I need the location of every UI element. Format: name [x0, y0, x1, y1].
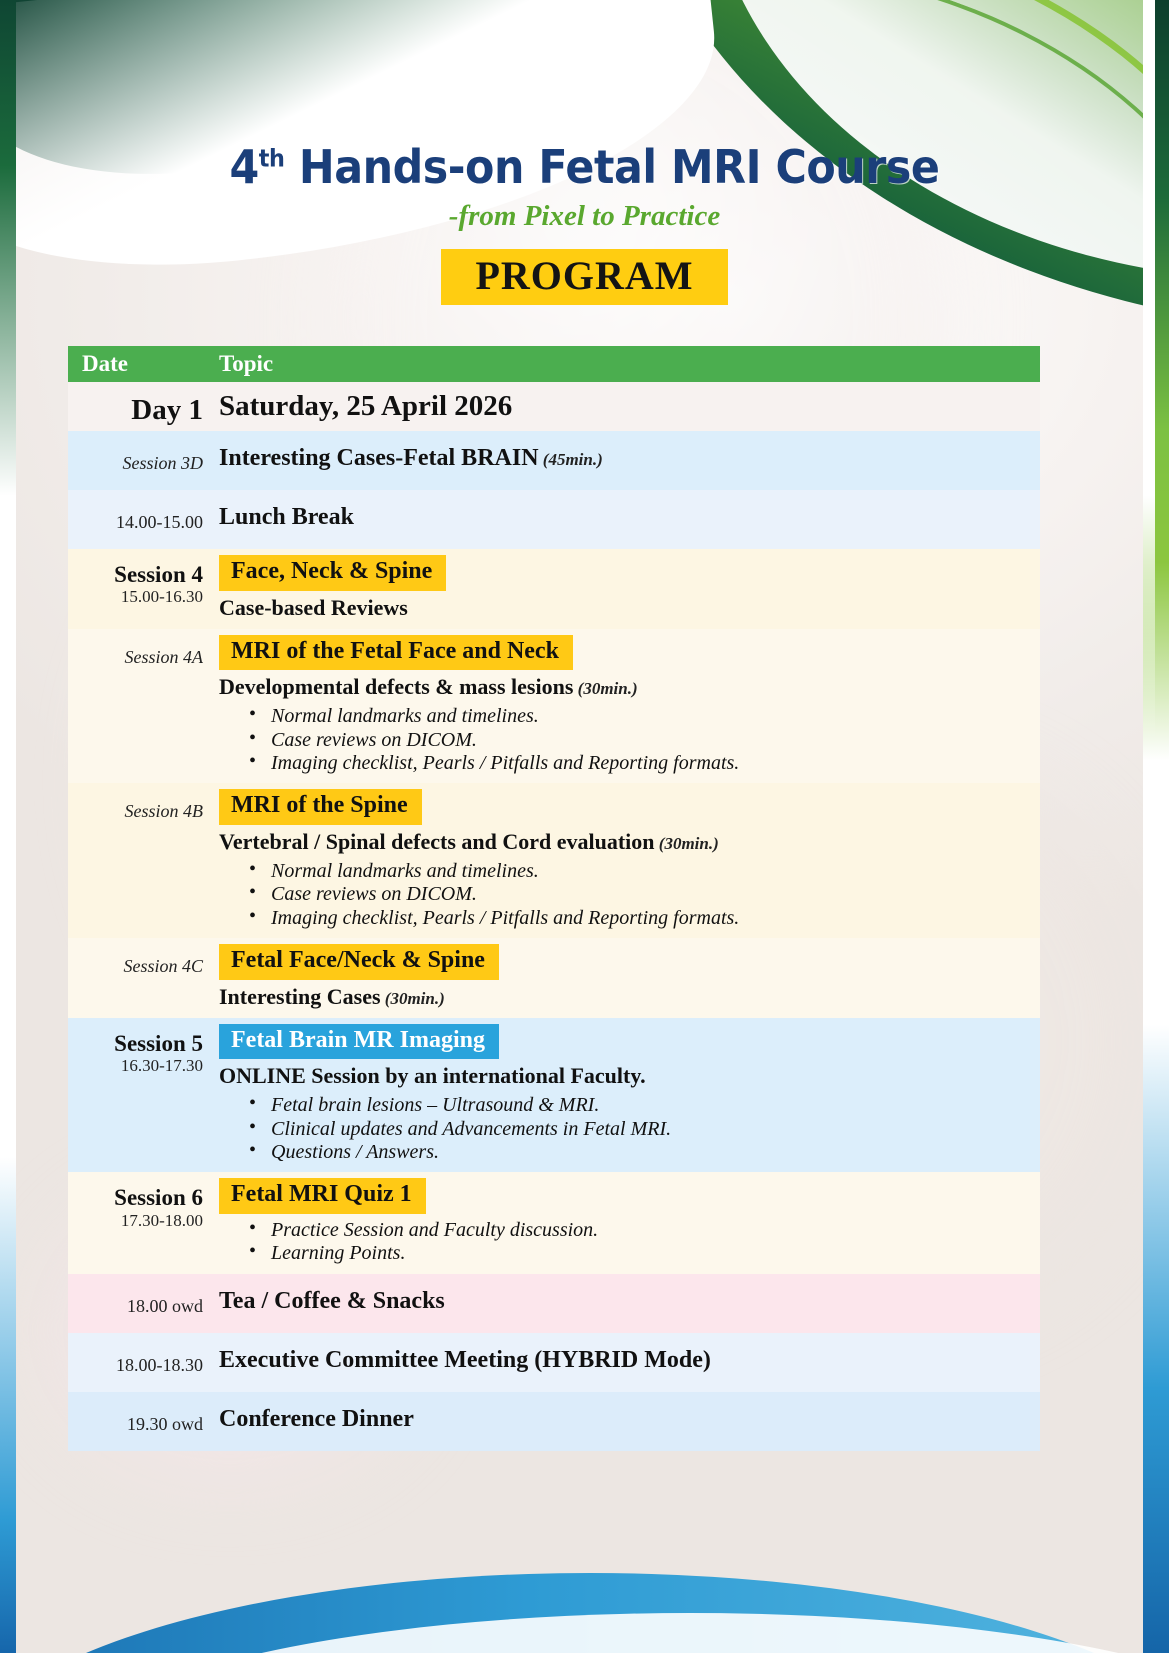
session-code: Session 4B	[68, 791, 203, 822]
session-time: 16.30-17.30	[68, 1056, 203, 1076]
session-time: 18.00-18.30	[68, 1341, 203, 1376]
session-bullet-list: Normal landmarks and timelines.Case revi…	[219, 860, 1040, 930]
session-subtitle: Developmental defects & mass lesions (30…	[219, 674, 1040, 700]
session-bullet-list: Normal landmarks and timelines.Case revi…	[219, 705, 1040, 775]
day-date-text: Saturday, 25 April 2026	[219, 388, 1040, 423]
table-row: Session 415.00-16.30Face, Neck & SpineCa…	[68, 549, 1040, 629]
list-item: Practice Session and Faculty discussion.	[245, 1219, 1040, 1242]
list-item: Case reviews on DICOM.	[245, 883, 1040, 906]
row-topic-cell: Saturday, 25 April 2026	[213, 382, 1040, 431]
session-time: 19.30 owd	[68, 1400, 203, 1435]
session-title-chip: Fetal MRI Quiz 1	[219, 1178, 426, 1214]
row-date-cell: 18.00 owd	[68, 1274, 213, 1333]
table-row: Session 617.30-18.00Fetal MRI Quiz 1Prac…	[68, 1172, 1040, 1273]
list-item: Questions / Answers.	[245, 1141, 1040, 1164]
duration-label: (30min.)	[573, 679, 637, 698]
session-code: Session 4A	[68, 637, 203, 668]
duration-label: (30min.)	[655, 834, 719, 853]
topic-title: Lunch Break	[219, 496, 1040, 541]
row-date-cell: Session 516.30-17.30	[68, 1018, 213, 1173]
row-topic-cell: MRI of the Fetal Face and NeckDevelopmen…	[213, 629, 1040, 784]
row-topic-cell: Fetal MRI Quiz 1Practice Session and Fac…	[213, 1172, 1040, 1273]
tagline: -from Pixel to Practice	[0, 200, 1169, 233]
chip-wrapper: Fetal Face/Neck & Spine	[219, 944, 1040, 980]
table-row: Session 3DInteresting Cases-Fetal BRAIN …	[68, 431, 1040, 490]
list-item: Clinical updates and Advancements in Fet…	[245, 1118, 1040, 1141]
row-topic-cell: Face, Neck & SpineCase-based Reviews	[213, 549, 1040, 629]
session-title-chip: MRI of the Fetal Face and Neck	[219, 635, 573, 671]
session-time: 14.00-15.00	[68, 498, 203, 533]
session-subtitle: ONLINE Session by an international Facul…	[219, 1063, 1040, 1089]
topic-title: Tea / Coffee & Snacks	[219, 1280, 1040, 1325]
table-header-row: Date Topic	[68, 346, 1040, 382]
session-time: 15.00-16.30	[68, 587, 203, 607]
session-subtitle: Vertebral / Spinal defects and Cord eval…	[219, 829, 1040, 855]
session-subtitle: Case-based Reviews	[219, 595, 1040, 621]
row-topic-cell: Fetal Face/Neck & SpineInteresting Cases…	[213, 938, 1040, 1018]
session-title-chip: Face, Neck & Spine	[219, 555, 446, 591]
row-topic-cell: Tea / Coffee & Snacks	[213, 1274, 1040, 1333]
title-text: Hands-on Fetal MRI Course	[284, 140, 939, 194]
program-badge: PROGRAM	[441, 249, 727, 305]
table-row: 18.00-18.30Executive Committee Meeting (…	[68, 1333, 1040, 1392]
row-date-cell: 19.30 owd	[68, 1392, 213, 1451]
table-row: 18.00 owdTea / Coffee & Snacks	[68, 1274, 1040, 1333]
table-row: Day 1Saturday, 25 April 2026	[68, 382, 1040, 431]
table-row: Session 516.30-17.30Fetal Brain MR Imagi…	[68, 1018, 1040, 1173]
topic-title: Interesting Cases-Fetal BRAIN (45min.)	[219, 437, 1040, 482]
row-date-cell: Session 4A	[68, 629, 213, 784]
row-date-cell: Session 415.00-16.30	[68, 549, 213, 629]
row-topic-cell: Executive Committee Meeting (HYBRID Mode…	[213, 1333, 1040, 1392]
session-title-chip: Fetal Brain MR Imaging	[219, 1024, 499, 1060]
table-row: 19.30 owdConference Dinner	[68, 1392, 1040, 1451]
title-ordinal-suffix: th	[259, 145, 285, 173]
list-item: Normal landmarks and timelines.	[245, 860, 1040, 883]
session-label: Session 4	[68, 557, 203, 587]
duration-label: (30min.)	[381, 989, 445, 1008]
session-code: Session 4C	[68, 946, 203, 977]
column-header-date: Date	[68, 351, 213, 377]
chip-wrapper: MRI of the Fetal Face and Neck	[219, 635, 1040, 671]
row-date-cell: Session 617.30-18.00	[68, 1172, 213, 1273]
chip-wrapper: Fetal Brain MR Imaging	[219, 1024, 1040, 1060]
session-subtitle: Interesting Cases (30min.)	[219, 984, 1040, 1010]
topic-title: Executive Committee Meeting (HYBRID Mode…	[219, 1339, 1040, 1384]
row-date-cell: Session 4B	[68, 783, 213, 938]
row-topic-cell: Lunch Break	[213, 490, 1040, 549]
session-title-chip: MRI of the Spine	[219, 789, 422, 825]
chip-wrapper: Face, Neck & Spine	[219, 555, 1040, 591]
day-label: Day 1	[68, 390, 203, 427]
row-date-cell: 18.00-18.30	[68, 1333, 213, 1392]
row-topic-cell: Fetal Brain MR ImagingONLINE Session by …	[213, 1018, 1040, 1173]
session-bullet-list: Fetal brain lesions – Ultrasound & MRI.C…	[219, 1094, 1040, 1164]
session-label: Session 6	[68, 1180, 203, 1210]
row-topic-cell: Interesting Cases-Fetal BRAIN (45min.)	[213, 431, 1040, 490]
program-table: Date Topic Day 1Saturday, 25 April 2026S…	[68, 346, 1040, 1451]
session-code: Session 3D	[68, 439, 203, 474]
list-item: Fetal brain lesions – Ultrasound & MRI.	[245, 1094, 1040, 1117]
topic-title: Conference Dinner	[219, 1398, 1040, 1443]
row-topic-cell: MRI of the SpineVertebral / Spinal defec…	[213, 783, 1040, 938]
list-item: Normal landmarks and timelines.	[245, 705, 1040, 728]
list-item: Case reviews on DICOM.	[245, 729, 1040, 752]
session-bullet-list: Practice Session and Faculty discussion.…	[219, 1219, 1040, 1266]
session-time: 18.00 owd	[68, 1282, 203, 1317]
session-label: Session 5	[68, 1026, 203, 1056]
table-row: Session 4CFetal Face/Neck & SpineInteres…	[68, 938, 1040, 1018]
row-date-cell: Day 1	[68, 382, 213, 431]
bottom-wave-area	[0, 1473, 1169, 1653]
chip-wrapper: MRI of the Spine	[219, 789, 1040, 825]
session-title-chip: Fetal Face/Neck & Spine	[219, 944, 499, 980]
column-header-topic: Topic	[213, 351, 1040, 377]
table-row: 14.00-15.00Lunch Break	[68, 490, 1040, 549]
table-row: Session 4BMRI of the SpineVertebral / Sp…	[68, 783, 1040, 938]
chip-wrapper: Fetal MRI Quiz 1	[219, 1178, 1040, 1214]
poster-header: 4th Hands-on Fetal MRI Course -from Pixe…	[0, 0, 1169, 305]
row-date-cell: Session 4C	[68, 938, 213, 1018]
page-title: 4th Hands-on Fetal MRI Course	[41, 140, 1128, 194]
row-date-cell: 14.00-15.00	[68, 490, 213, 549]
table-row: Session 4AMRI of the Fetal Face and Neck…	[68, 629, 1040, 784]
session-time: 17.30-18.00	[68, 1211, 203, 1231]
title-number: 4	[230, 140, 259, 194]
row-date-cell: Session 3D	[68, 431, 213, 490]
list-item: Imaging checklist, Pearls / Pitfalls and…	[245, 752, 1040, 775]
row-topic-cell: Conference Dinner	[213, 1392, 1040, 1451]
list-item: Learning Points.	[245, 1242, 1040, 1265]
list-item: Imaging checklist, Pearls / Pitfalls and…	[245, 907, 1040, 930]
table-body: Day 1Saturday, 25 April 2026Session 3DIn…	[68, 382, 1040, 1451]
duration-label: (45min.)	[539, 450, 603, 469]
